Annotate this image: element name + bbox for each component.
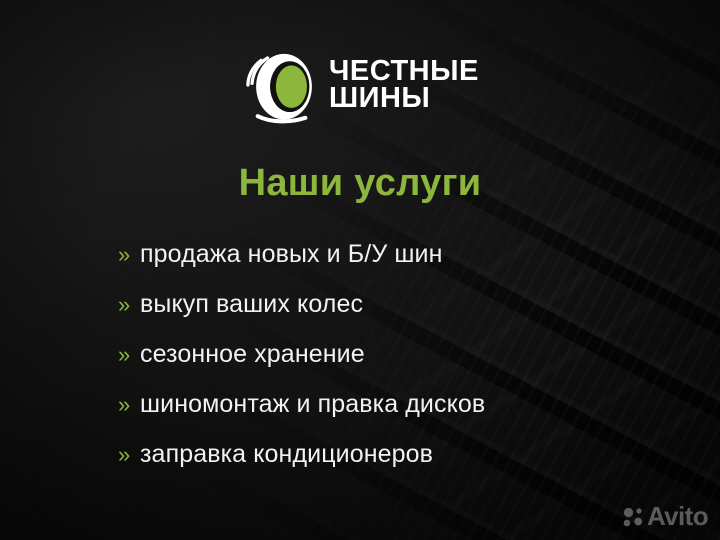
services-list: » продажа новых и Б/У шин » выкуп ваших … (118, 240, 678, 490)
chevron-double-right-icon: » (118, 444, 140, 466)
chevron-double-right-icon: » (118, 344, 140, 366)
logo-line-1: ЧЕСТНЫЕ (329, 58, 479, 85)
list-item: » заправка кондиционеров (118, 440, 678, 490)
logo-wordmark: ЧЕСТНЫЕ ШИНЫ (329, 58, 479, 111)
list-item: » продажа новых и Б/У шин (118, 240, 678, 290)
list-item: » шиномонтаж и правка дисков (118, 390, 678, 440)
avito-dots-icon (621, 505, 645, 529)
service-label: продажа новых и Б/У шин (140, 240, 442, 269)
service-label: заправка кондиционеров (140, 440, 433, 469)
service-label: шиномонтаж и правка дисков (140, 390, 485, 419)
brand-logo: ЧЕСТНЫЕ ШИНЫ (243, 44, 488, 126)
list-item: » выкуп ваших колес (118, 290, 678, 340)
page-title: Наши услуги (0, 162, 720, 205)
service-label: сезонное хранение (140, 340, 365, 369)
chevron-double-right-icon: » (118, 294, 140, 316)
chevron-double-right-icon: » (118, 244, 140, 266)
list-item: » сезонное хранение (118, 340, 678, 390)
avito-watermark: Avito (621, 501, 708, 532)
advertisement-banner: ЧЕСТНЫЕ ШИНЫ Наши услуги » продажа новых… (0, 0, 720, 540)
avito-label: Avito (647, 501, 708, 532)
service-label: выкуп ваших колес (140, 290, 363, 319)
chevron-double-right-icon: » (118, 394, 140, 416)
tire-wheel-icon (243, 44, 325, 126)
logo-line-2: ШИНЫ (329, 85, 479, 112)
